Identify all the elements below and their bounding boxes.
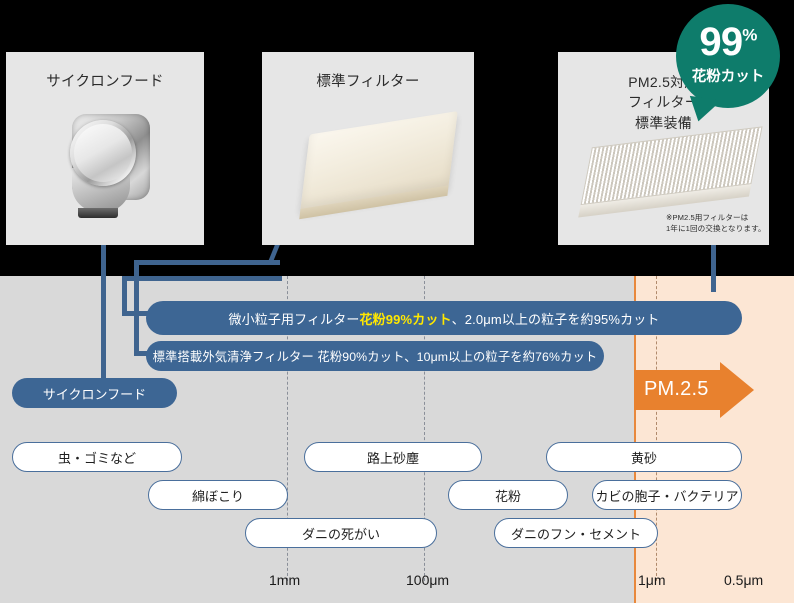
- particle-label-pill: カビの胞子・バクテリア: [592, 480, 742, 510]
- connector-fine-horizontal: [122, 276, 282, 281]
- pm25-arrow: PM.2.5: [634, 362, 754, 418]
- pm25-arrow-label: PM.2.5: [644, 378, 709, 401]
- connector-standard-horizontal: [134, 260, 280, 265]
- particle-label-pill: 黄砂: [546, 442, 742, 472]
- axis-tick-label: 100μm: [406, 572, 449, 588]
- particle-label-pill: 虫・ゴミなど: [12, 442, 182, 472]
- connector-standard-vertical: [134, 260, 139, 356]
- pm25-filter-image: [577, 126, 762, 221]
- axis-tick-label: 0.5μm: [724, 572, 763, 588]
- standard-filter-image: [300, 111, 458, 211]
- cyclone-hood-image: [50, 110, 160, 230]
- particle-label-pill: 花粉: [448, 480, 568, 510]
- banner-fine-particle-filter: 微小粒子用フィルター 花粉99%カット、2.0μm以上の粒子を約95%カット: [146, 301, 742, 335]
- badge-percent-sign: %: [742, 26, 756, 45]
- banner-fine-highlight: 花粉99%カット: [360, 309, 452, 328]
- pill-cyclone-hood: サイクロンフード: [12, 378, 177, 408]
- infographic-root: サイクロンフード 標準フィルター PM2.5対応 フィルター 標準装備 ※PM2…: [0, 0, 794, 603]
- axis-tick-label: 1μm: [638, 572, 666, 588]
- connector-fine-vertical: [122, 276, 127, 316]
- particle-label-pill: 綿ぼこり: [148, 480, 288, 510]
- particle-label-pill: 路上砂塵: [304, 442, 482, 472]
- axis-tick-label: 1mm: [269, 572, 300, 588]
- pollen-cut-badge: 99% 花粉カット: [676, 4, 780, 108]
- particle-label-pill: ダニのフン・セメント: [494, 518, 658, 548]
- banner-fine-part2: 、2.0μm以上の粒子を約95%カット: [452, 309, 660, 328]
- banner-standard-filter: 標準搭載外気清浄フィルター 花粉90%カット、10μm以上の粒子を約76%カット: [146, 341, 604, 371]
- panel-cyclone-hood: サイクロンフード: [6, 52, 204, 245]
- panel-standard-filter: 標準フィルター: [262, 52, 474, 245]
- banner-fine-part1: 微小粒子用フィルター: [229, 309, 360, 328]
- connector-cyclone-vertical: [101, 225, 106, 385]
- badge-number: 99%: [676, 22, 780, 62]
- panel-standard-filter-title: 標準フィルター: [262, 72, 474, 93]
- badge-sublabel: 花粉カット: [676, 65, 780, 86]
- particle-label-pill: ダニの死がい: [245, 518, 437, 548]
- panel-cyclone-hood-title: サイクロンフード: [6, 72, 204, 93]
- connector-pm25-vertical: [711, 242, 716, 292]
- pm25-filter-note: ※PM2.5用フィルターは 1年に1回の交換となります。: [666, 212, 794, 235]
